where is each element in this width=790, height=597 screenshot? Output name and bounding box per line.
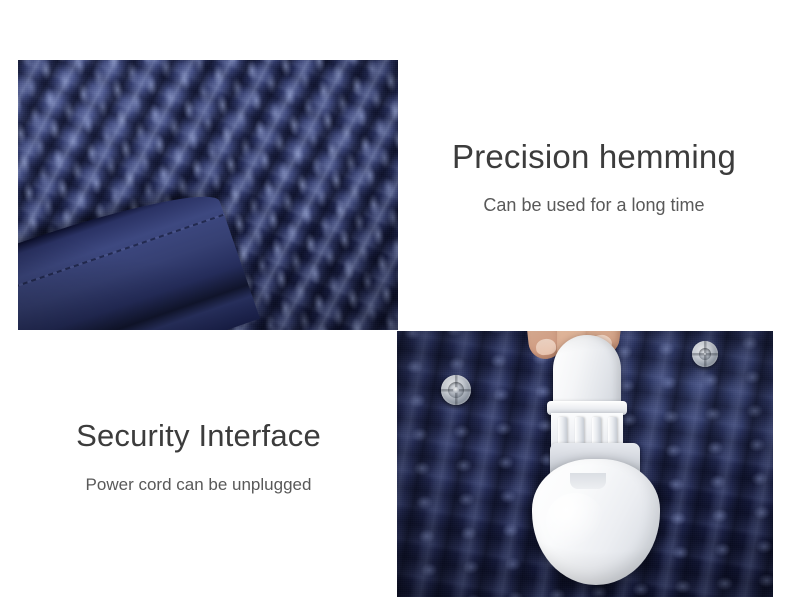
- security-subtitle: Power cord can be unplugged: [0, 472, 397, 497]
- hemming-subtitle: Can be used for a long time: [398, 192, 790, 218]
- hemming-title: Precision hemming: [398, 136, 790, 178]
- connector-vignette: [397, 331, 773, 597]
- quilted-fabric-photo: [18, 60, 398, 330]
- fabric-vignette: [18, 60, 398, 330]
- security-title: Security Interface: [0, 416, 397, 456]
- caption-precision-hemming: Precision hemming Can be used for a long…: [398, 136, 790, 218]
- caption-security-interface: Security Interface Power cord can be unp…: [0, 416, 397, 497]
- product-feature-panel: Precision hemming Can be used for a long…: [0, 0, 790, 597]
- power-connector-photo: [397, 331, 773, 597]
